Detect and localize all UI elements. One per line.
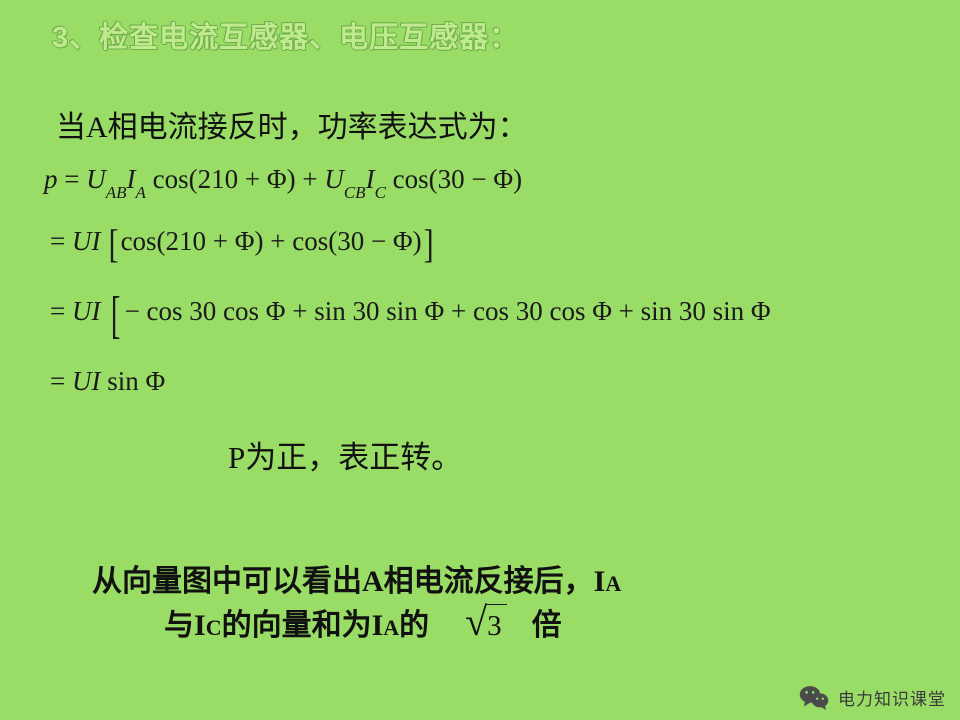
symbol-ia-1: I (594, 565, 606, 598)
conclusion-line-2-a: 与 (164, 606, 194, 646)
radical-bar (485, 604, 507, 606)
conclusion-block: 从向量图中可以看出A相电流反接后，IA 与IC的向量和为IA的 √3 倍 (92, 562, 892, 646)
formula-equals-2: = (50, 226, 65, 256)
formula-block: p = UABIA cos(210 + Φ) + UCBIC cos(30 − … (44, 166, 960, 395)
formula-body-2: cos(210 + Φ) + cos(30 − Φ) (121, 226, 422, 256)
intro-text: 当A相电流接反时，功率表达式为： (56, 102, 528, 146)
conclusion-line-2-d: 倍 (532, 606, 562, 646)
slide-canvas: 3、检查电流互感器、电压互感器： 当A相电流接反时，功率表达式为： p = UA… (0, 0, 960, 720)
formula-line-2: = UI [cos(210 + Φ) + cos(30 − Φ)] (50, 224, 960, 264)
formula-lhs: p (44, 164, 58, 194)
conclusion-line-2: 与IC的向量和为IA的 √3 倍 (164, 602, 892, 646)
formula-ui-2: UI (72, 226, 101, 256)
p-positive-text: P为正，表正转。 (228, 432, 462, 477)
symbol-ia-1-sub: A (605, 571, 621, 596)
radical-sign: √ (465, 599, 487, 644)
watermark-text: 电力知识课堂 (838, 685, 946, 710)
formula-line-3: = UI [− cos 30 cos Φ + sin 30 sin Φ + co… (50, 290, 960, 342)
bracket-close-2: ] (423, 224, 433, 264)
formula-i2: I (366, 164, 375, 194)
conclusion-line-1: 从向量图中可以看出A相电流反接后，IA (92, 562, 892, 602)
bracket-open-2: [ (109, 224, 119, 264)
symbol-ic-sub: C (206, 613, 222, 642)
formula-line-1: p = UABIA cos(210 + Φ) + UCBIC cos(30 − … (44, 166, 960, 197)
formula-ui-3: UI (72, 296, 101, 326)
formula-i1: I (127, 164, 136, 194)
formula-cos2: cos(30 − Φ) (393, 164, 522, 194)
symbol-ia-2: I (372, 606, 384, 646)
radical-value: 3 (487, 610, 502, 642)
page-title: 3、检查电流互感器、电压互感器： (52, 14, 519, 56)
bracket-open-3: [ (111, 290, 121, 342)
formula-body-3: − cos 30 cos Φ + sin 30 sin Φ + cos 30 c… (125, 296, 771, 326)
conclusion-line-1-text: 从向量图中可以看出A相电流反接后， (92, 565, 594, 598)
formula-ui-4: UI (72, 366, 101, 396)
conclusion-line-2-b: 的向量和为 (222, 606, 372, 646)
formula-equals-4: = (50, 366, 65, 396)
formula-equals-1: = (64, 164, 79, 194)
formula-cos1: cos(210 + Φ) (153, 164, 296, 194)
formula-equals-3: = (50, 296, 65, 326)
formula-i1-sub: A (136, 183, 146, 202)
formula-u2-sub: CB (344, 183, 366, 202)
formula-body-4: sin Φ (107, 366, 165, 396)
formula-u2: U (324, 164, 344, 194)
wechat-icon (799, 685, 829, 710)
watermark: 电力知识课堂 (799, 685, 946, 710)
formula-i2-sub: C (375, 183, 386, 202)
conclusion-line-2-c: 的 (399, 606, 429, 646)
square-root-symbol: √3 (465, 602, 501, 646)
symbol-ic: I (194, 606, 206, 646)
formula-line-4: = UI sin Φ (50, 368, 960, 395)
formula-u1-sub: AB (106, 183, 127, 202)
formula-plus-1: + (302, 164, 317, 194)
symbol-ia-2-sub: A (383, 613, 399, 642)
formula-u1: U (86, 164, 106, 194)
